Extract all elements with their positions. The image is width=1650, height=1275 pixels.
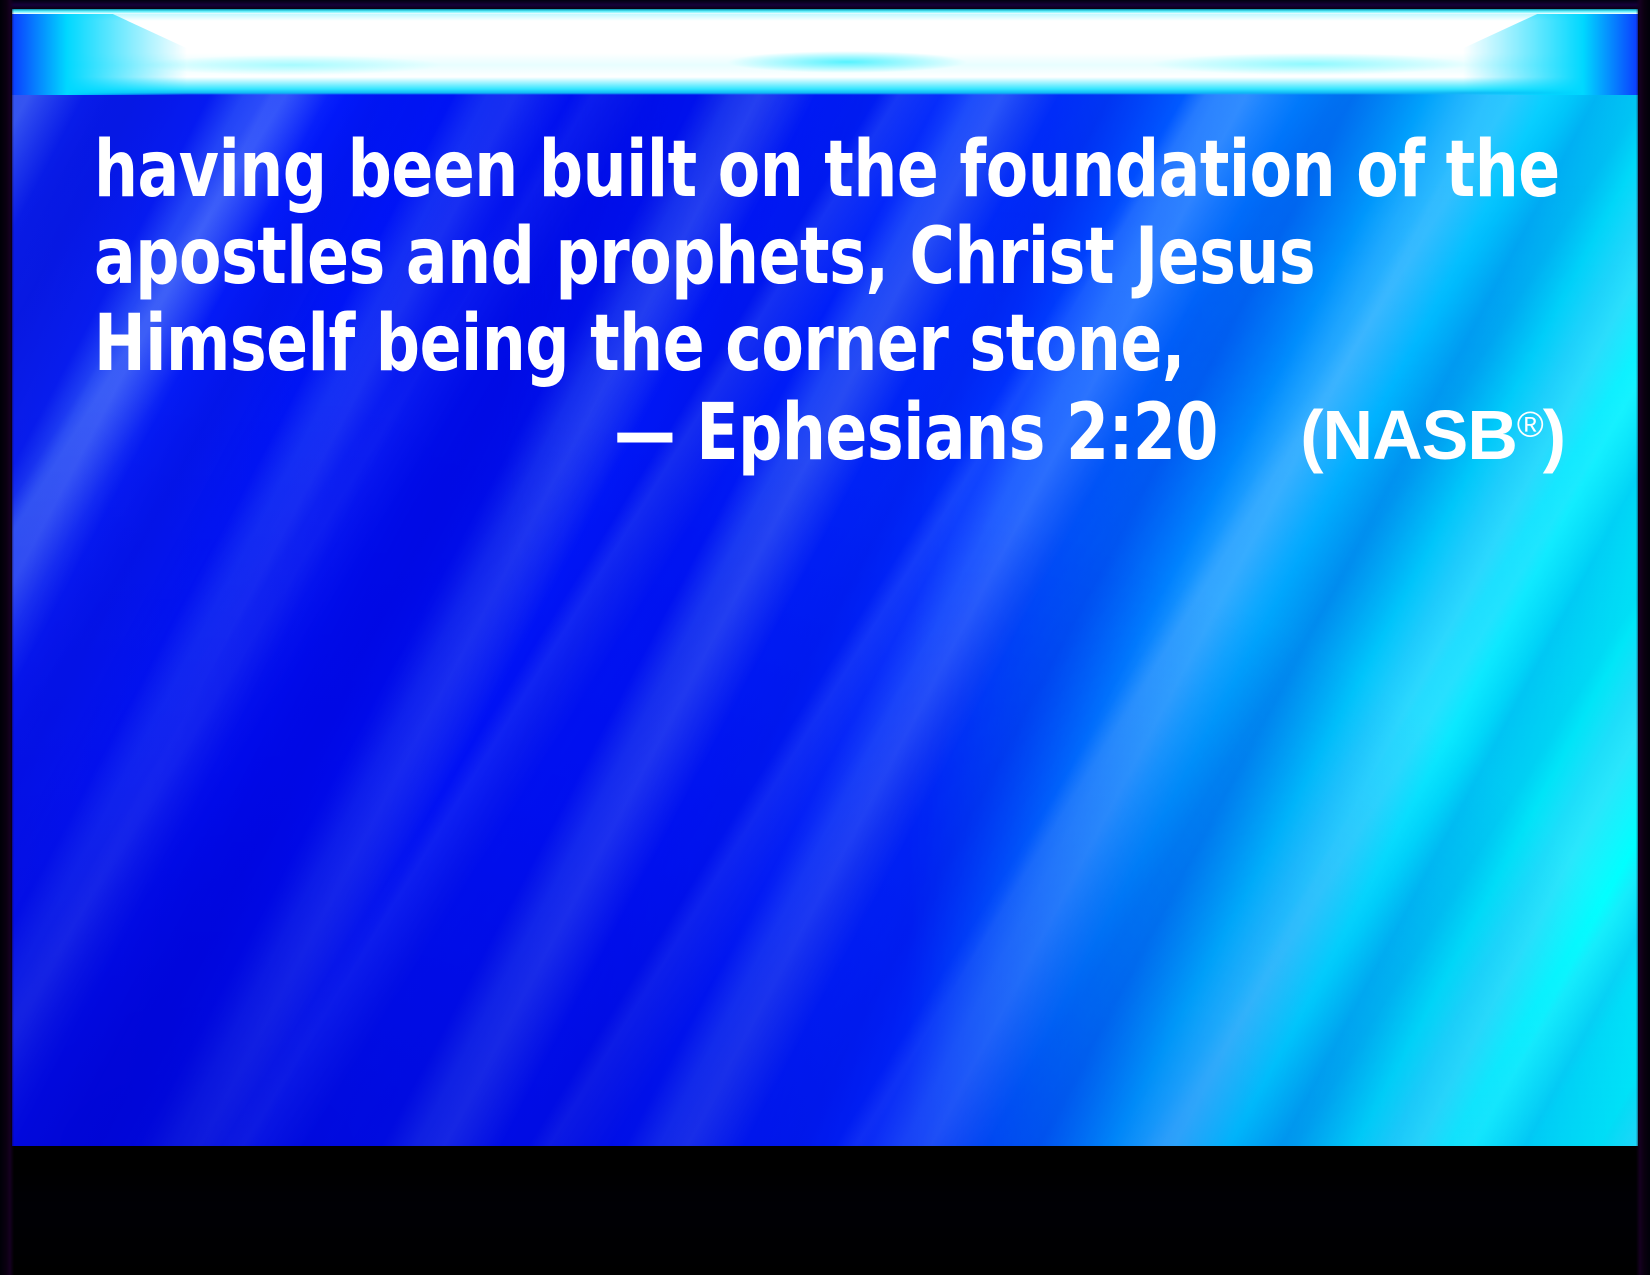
attribution-reference: — Ephesians 2:20 xyxy=(614,390,1218,477)
verse-line-1: having been built on the foundation of t… xyxy=(94,127,1379,214)
band-top-cyan-line xyxy=(12,9,1638,14)
verse-line-3: Himself being the corner stone, xyxy=(94,301,1379,388)
attribution-version-close: ) xyxy=(1543,396,1565,474)
slide-artwork-canvas: having been built on the foundation of t… xyxy=(12,9,1638,1146)
bottom-black-strip xyxy=(0,1146,1650,1275)
scripture-slide: having been built on the foundation of t… xyxy=(0,0,1650,1275)
registered-trademark-icon: ® xyxy=(1517,403,1543,444)
verse-text-block: having been built on the foundation of t… xyxy=(94,127,1554,477)
attribution-version: (NASB®) xyxy=(1300,396,1565,474)
attribution-version-open: (NASB xyxy=(1300,396,1517,474)
verse-line-2: apostles and prophets, Christ Jesus xyxy=(94,214,1379,301)
verse-attribution: — Ephesians 2:20(NASB®) xyxy=(94,390,1554,477)
